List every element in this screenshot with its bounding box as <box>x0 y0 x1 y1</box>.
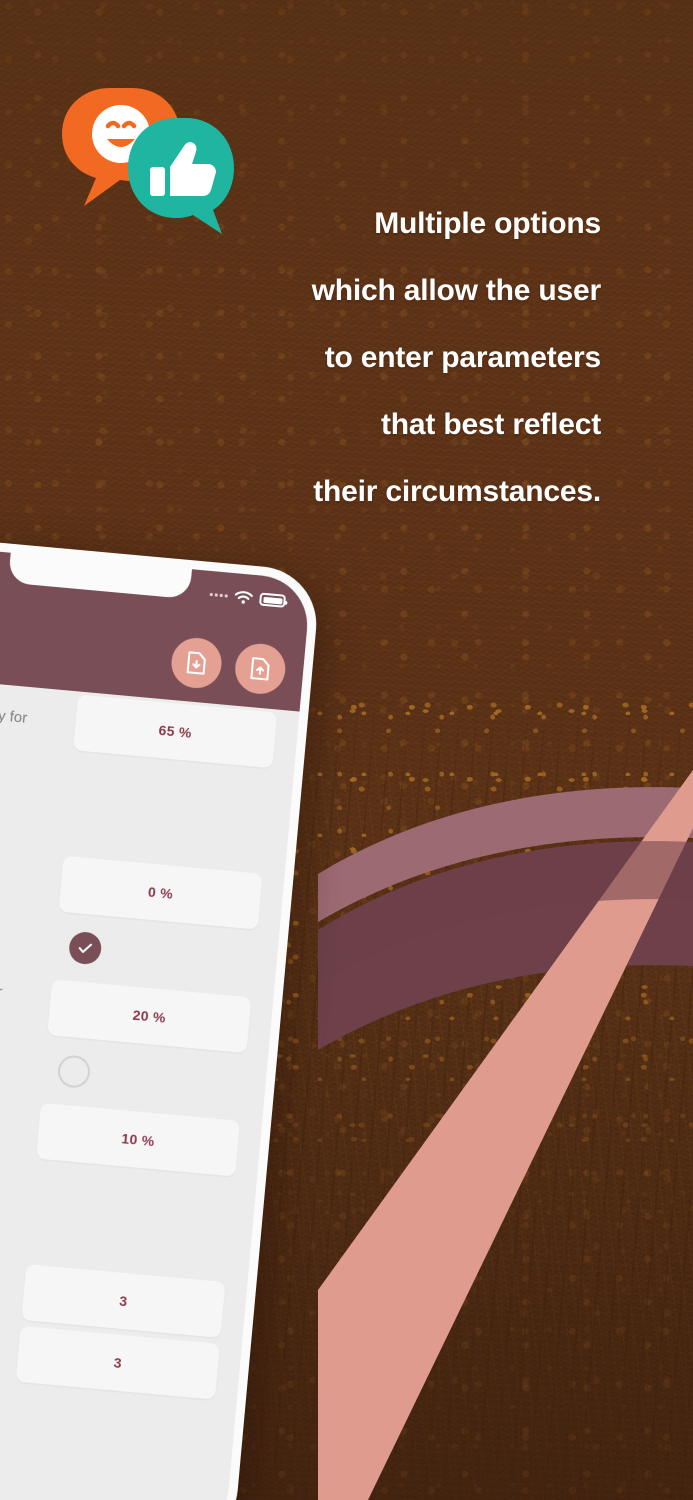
row-label: ecast wetdays in 2 eks <box>0 1317 10 1374</box>
row-label: gation by spray for <box>0 696 67 732</box>
signal-dots-icon <box>210 593 228 598</box>
headline-line-1: Multiple options <box>81 190 601 257</box>
row-label: ecast wetdays next ek <box>0 1255 16 1312</box>
field-value: 3 <box>119 1293 129 1310</box>
document-upload-icon <box>248 656 272 682</box>
app-bar-title: Scenario <box>0 626 173 671</box>
wifi-icon <box>234 590 253 605</box>
row-label: gation by spray for erotinia <box>0 971 42 1028</box>
app-bar-actions <box>169 636 287 696</box>
headline-line-3: to enter parameters <box>81 324 601 391</box>
load-scenario-button[interactable] <box>233 642 287 696</box>
field-value: 3 <box>113 1354 123 1371</box>
field-value: 65 % <box>158 722 192 741</box>
headline-line-4: that best reflect <box>81 391 601 458</box>
battery-full-icon <box>259 592 286 607</box>
headline-line-2: which allow the user <box>81 257 601 324</box>
row-label: er diseases <box>0 858 52 894</box>
headline: Multiple options which allow the user to… <box>81 190 601 525</box>
field-value: 10 % <box>121 1130 155 1149</box>
sclerotinia-checkbox-checked[interactable] <box>68 931 103 966</box>
field-value: 0 % <box>147 884 173 902</box>
row-label: er diseases <box>0 1043 35 1079</box>
headline-line-5: their circumstances. <box>81 458 601 525</box>
field-value: 20 % <box>132 1007 166 1026</box>
sclerotinia-checkbox-cell[interactable] <box>54 929 256 979</box>
row-label: erotinia <box>0 919 46 955</box>
other-diseases-checkbox-unchecked[interactable] <box>57 1054 92 1089</box>
save-scenario-button[interactable] <box>169 636 223 690</box>
promo-screenshot: Multiple options which allow the user to… <box>0 0 693 1500</box>
status-icons <box>209 588 286 608</box>
other-diseases-checkbox-cell[interactable] <box>43 1053 245 1103</box>
checkmark-icon <box>75 938 95 958</box>
row-label: gation by spray for er diseases <box>0 1094 30 1151</box>
document-download-icon <box>184 650 208 676</box>
